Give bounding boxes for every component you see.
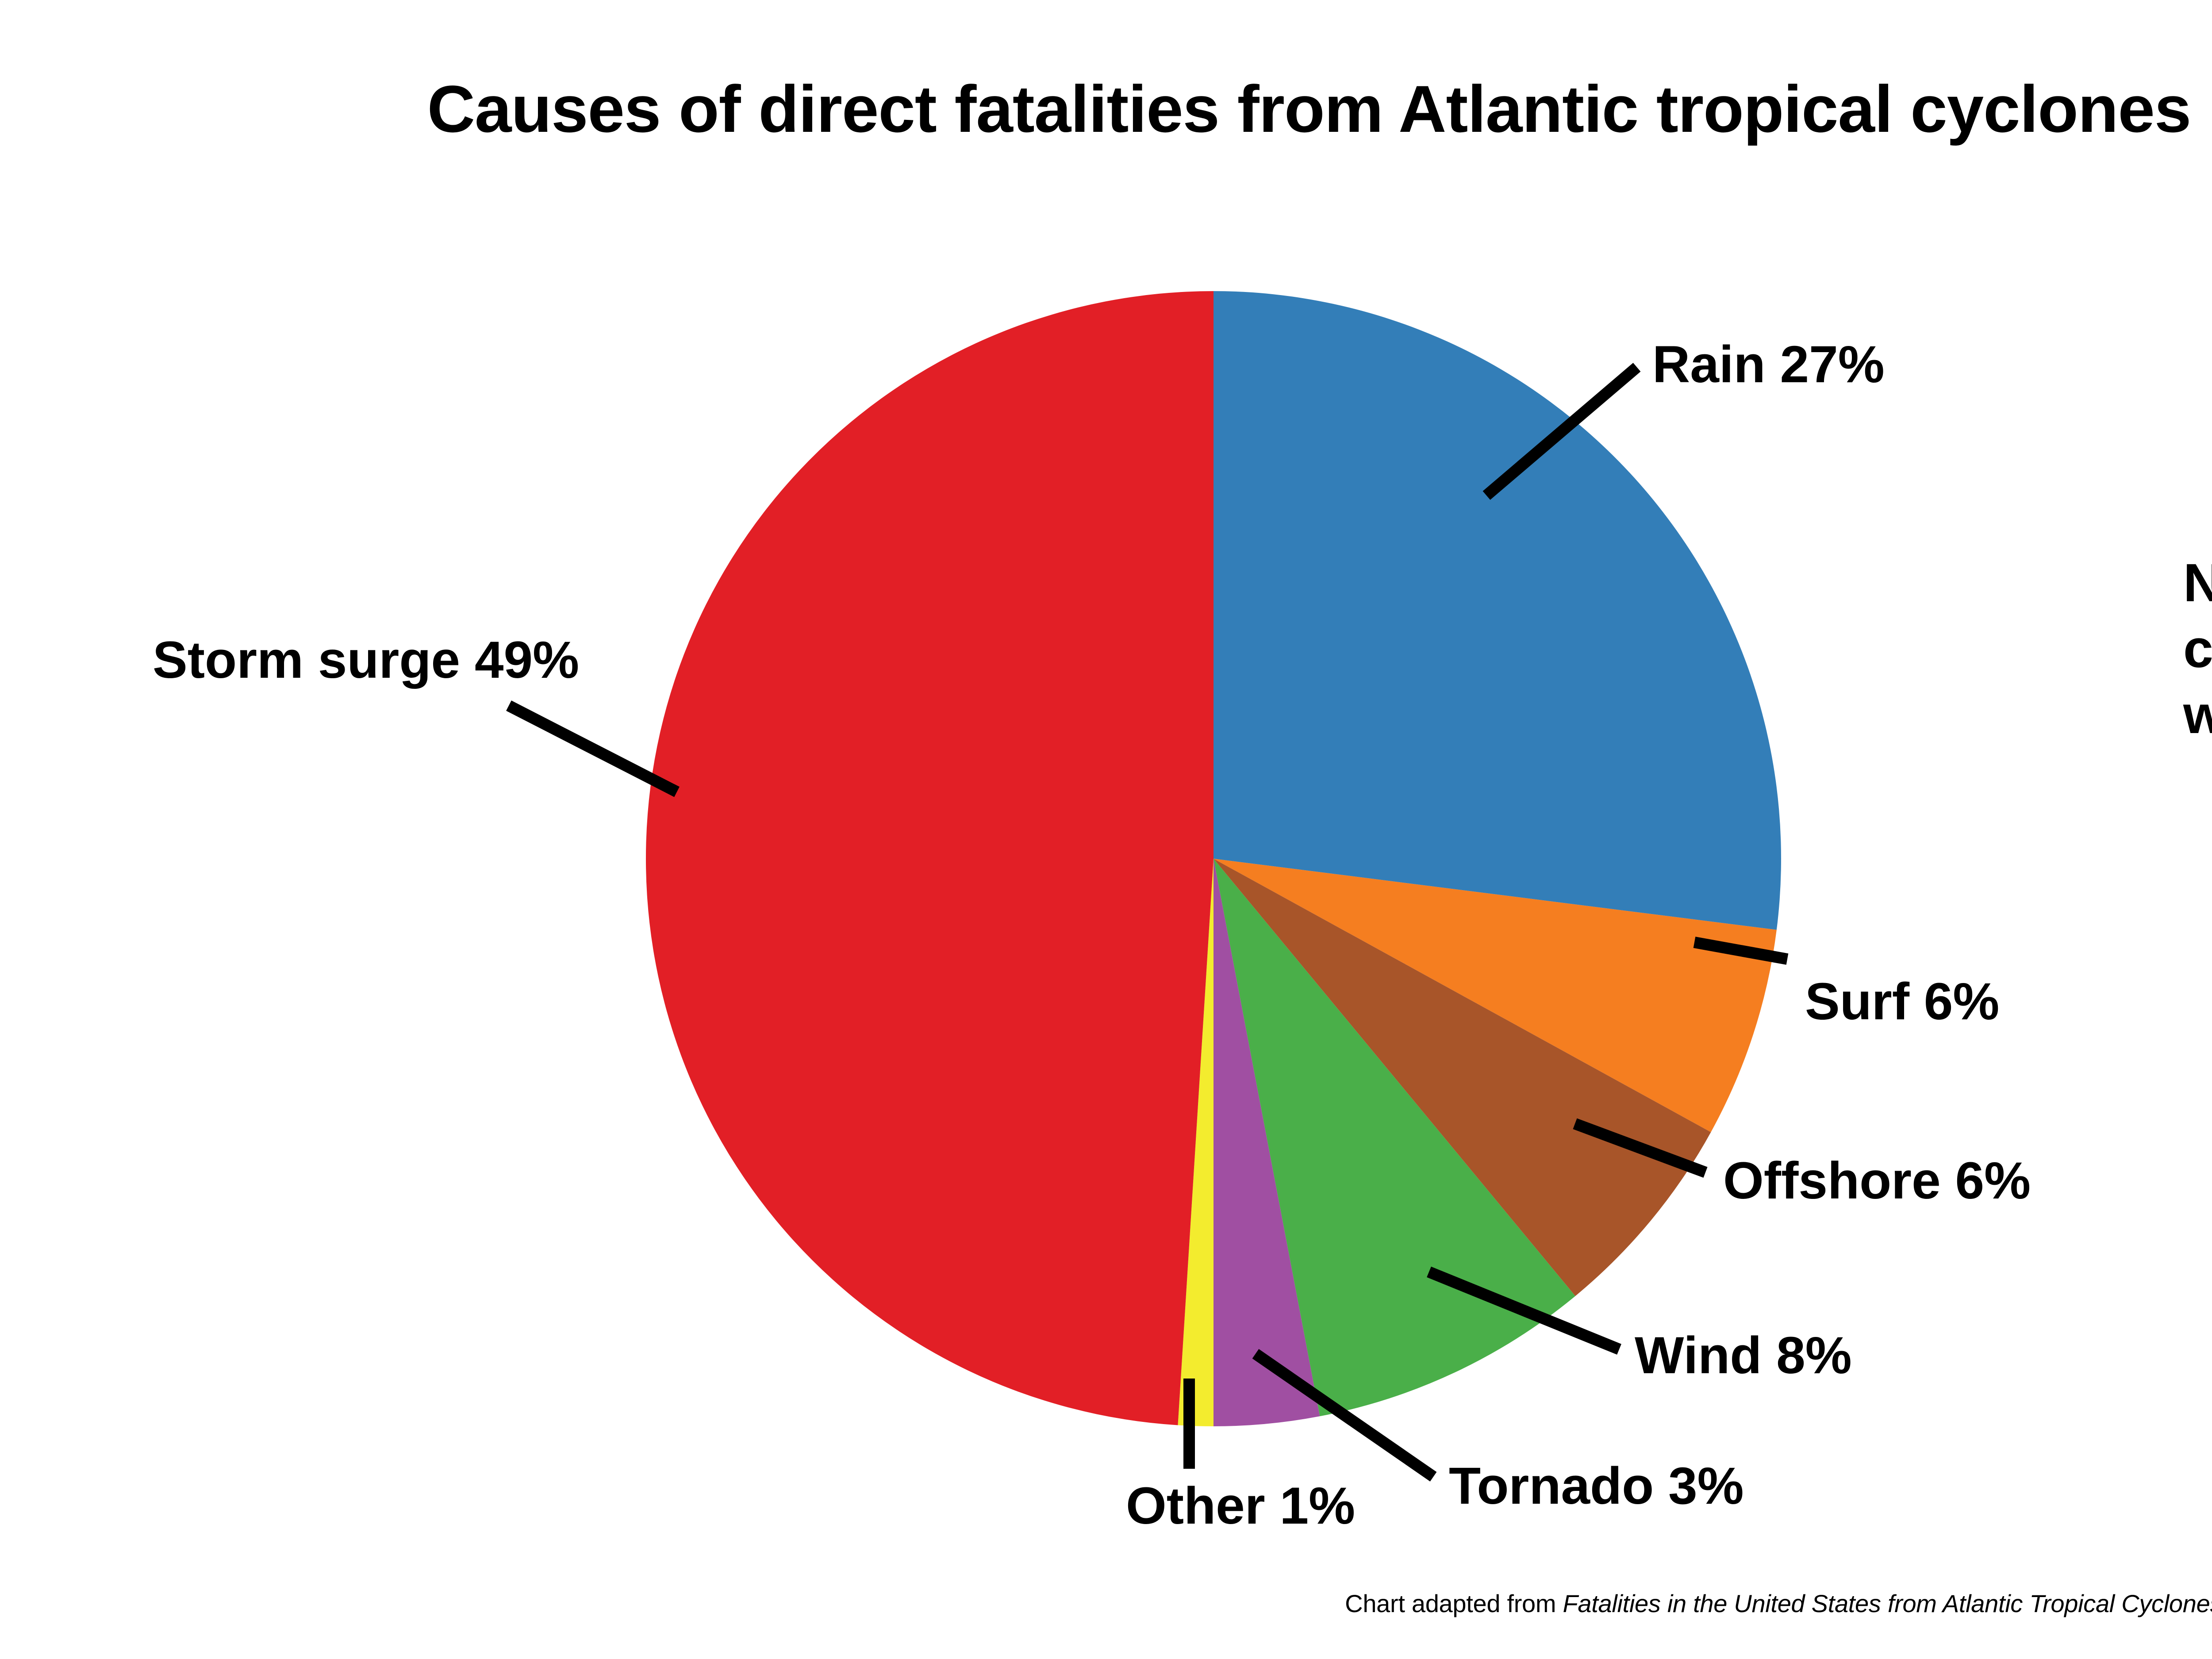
- pie-chart-graphic: [0, 0, 2212, 1659]
- pie-label-storm-surge: Storm surge 49%: [153, 632, 579, 689]
- leader-line-storm-surge: [509, 706, 677, 792]
- pie-label-offshore: Offshore 6%: [1723, 1152, 2031, 1210]
- pie-label-surf: Surf 6%: [1805, 973, 1999, 1031]
- pie-slices-group: [646, 291, 1781, 1426]
- pie-label-wind: Wind 8%: [1635, 1327, 1852, 1385]
- pie-label-tornado: Tornado 3%: [1449, 1458, 1744, 1515]
- pie-label-other: Other 1%: [1126, 1478, 1355, 1535]
- pie-slice-storm-surge: [646, 291, 1214, 1425]
- source-attribution: Chart adapted from Fatalities in the Uni…: [1345, 1589, 2212, 1618]
- water-hazards-note: Note that 88% of deaths can be attribute…: [2183, 550, 2212, 747]
- attribution-prefix: Chart adapted from: [1345, 1590, 1563, 1617]
- pie-label-rain: Rain 27%: [1652, 336, 1885, 394]
- attribution-source-title: Fatalities in the United States from Atl…: [1563, 1590, 2212, 1617]
